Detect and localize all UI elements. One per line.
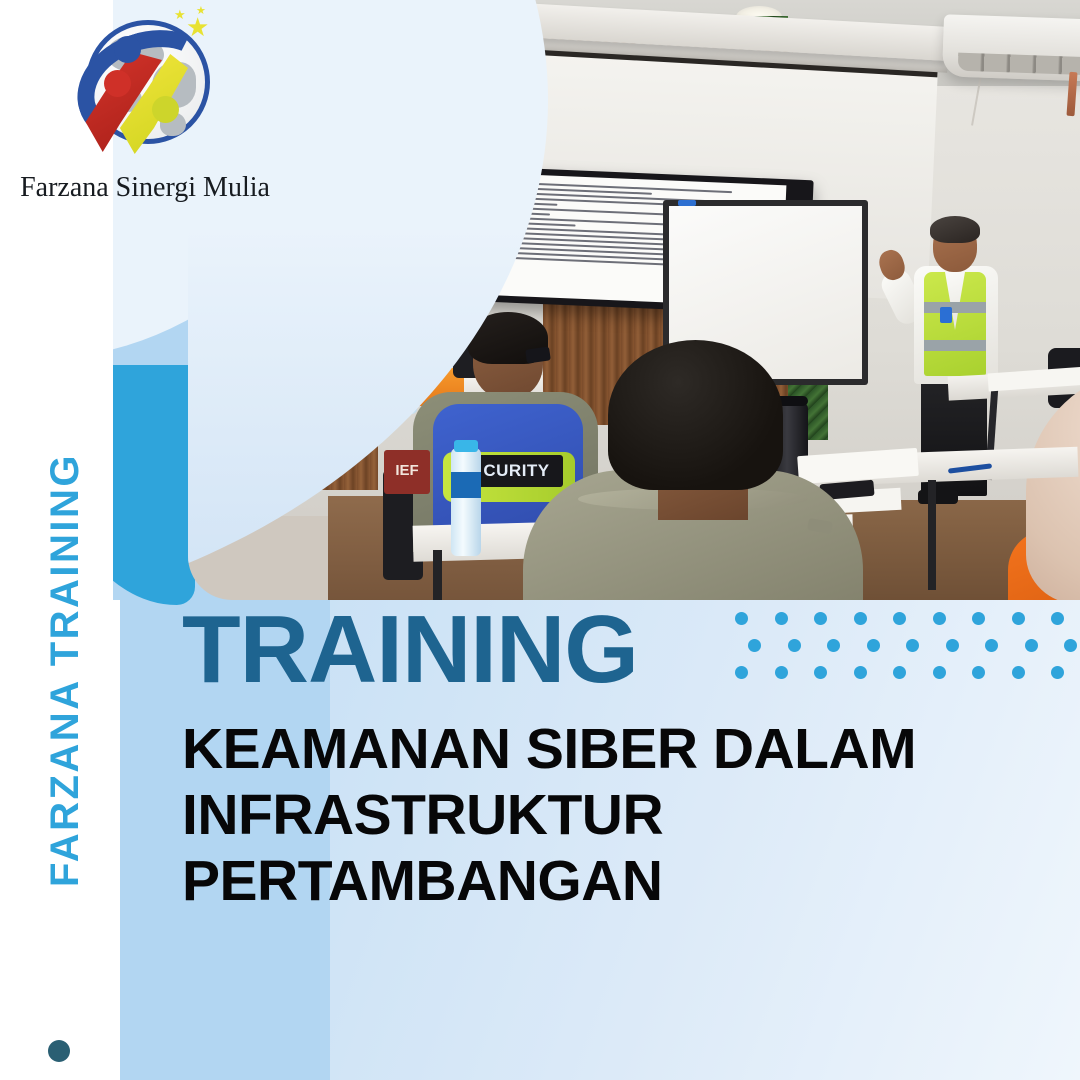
yellow-person-head-icon: [152, 96, 179, 123]
brand-logo: ★ ★ ★ Farzana Sinergi Mulia: [0, 8, 290, 204]
bullet-dot-icon: [48, 1040, 70, 1062]
training-photo: CURITY IEF: [188, 0, 1080, 600]
instructor-shoe: [918, 490, 958, 504]
training-poster: CURITY IEF ★ ★: [0, 0, 1080, 1080]
water-bottle-front-cap: [454, 440, 478, 452]
title-line-1: KEAMANAN SIBER DALAM: [182, 716, 1012, 782]
side-vertical-label-text: FARZANA TRAINING: [43, 453, 88, 887]
star-icon-tiny: ★: [196, 6, 206, 17]
blue-person-head-icon: [114, 36, 141, 63]
water-bottle-front-label: [451, 472, 481, 498]
security-vest-text: CURITY: [469, 458, 564, 484]
instructor-hair: [930, 216, 980, 243]
eyebrow-training: TRAINING: [182, 602, 1012, 698]
company-name: Farzana Sinergi Mulia: [20, 172, 270, 204]
headline-block: TRAINING KEAMANAN SIBER DALAM INFRASTRUK…: [182, 602, 1012, 914]
shoulder-patch-text: IEF: [384, 460, 430, 482]
instructor-id-badge: [940, 307, 952, 323]
globe-people-logo-icon: ★ ★ ★: [56, 8, 234, 168]
title-line-2: INFRASTRUKTUR: [182, 782, 1012, 848]
water-bottle-front: [451, 448, 481, 556]
table-front-leg: [433, 550, 442, 600]
vest-reflective-stripe: [924, 302, 986, 313]
page-title: KEAMANAN SIBER DALAM INFRASTRUKTUR PERTA…: [182, 716, 1012, 914]
title-line-3: PERTAMBANGAN: [182, 848, 1012, 914]
vest-reflective-stripe-2: [924, 340, 986, 351]
table-middle-leg: [928, 480, 936, 590]
star-icon: ★: [186, 14, 209, 40]
whiteboard-marker: [678, 200, 696, 206]
side-vertical-label: FARZANA TRAINING: [35, 460, 95, 880]
red-person-head-icon: [104, 70, 131, 97]
participant-beige-hair: [608, 340, 783, 490]
star-icon-small: ★: [174, 8, 186, 21]
